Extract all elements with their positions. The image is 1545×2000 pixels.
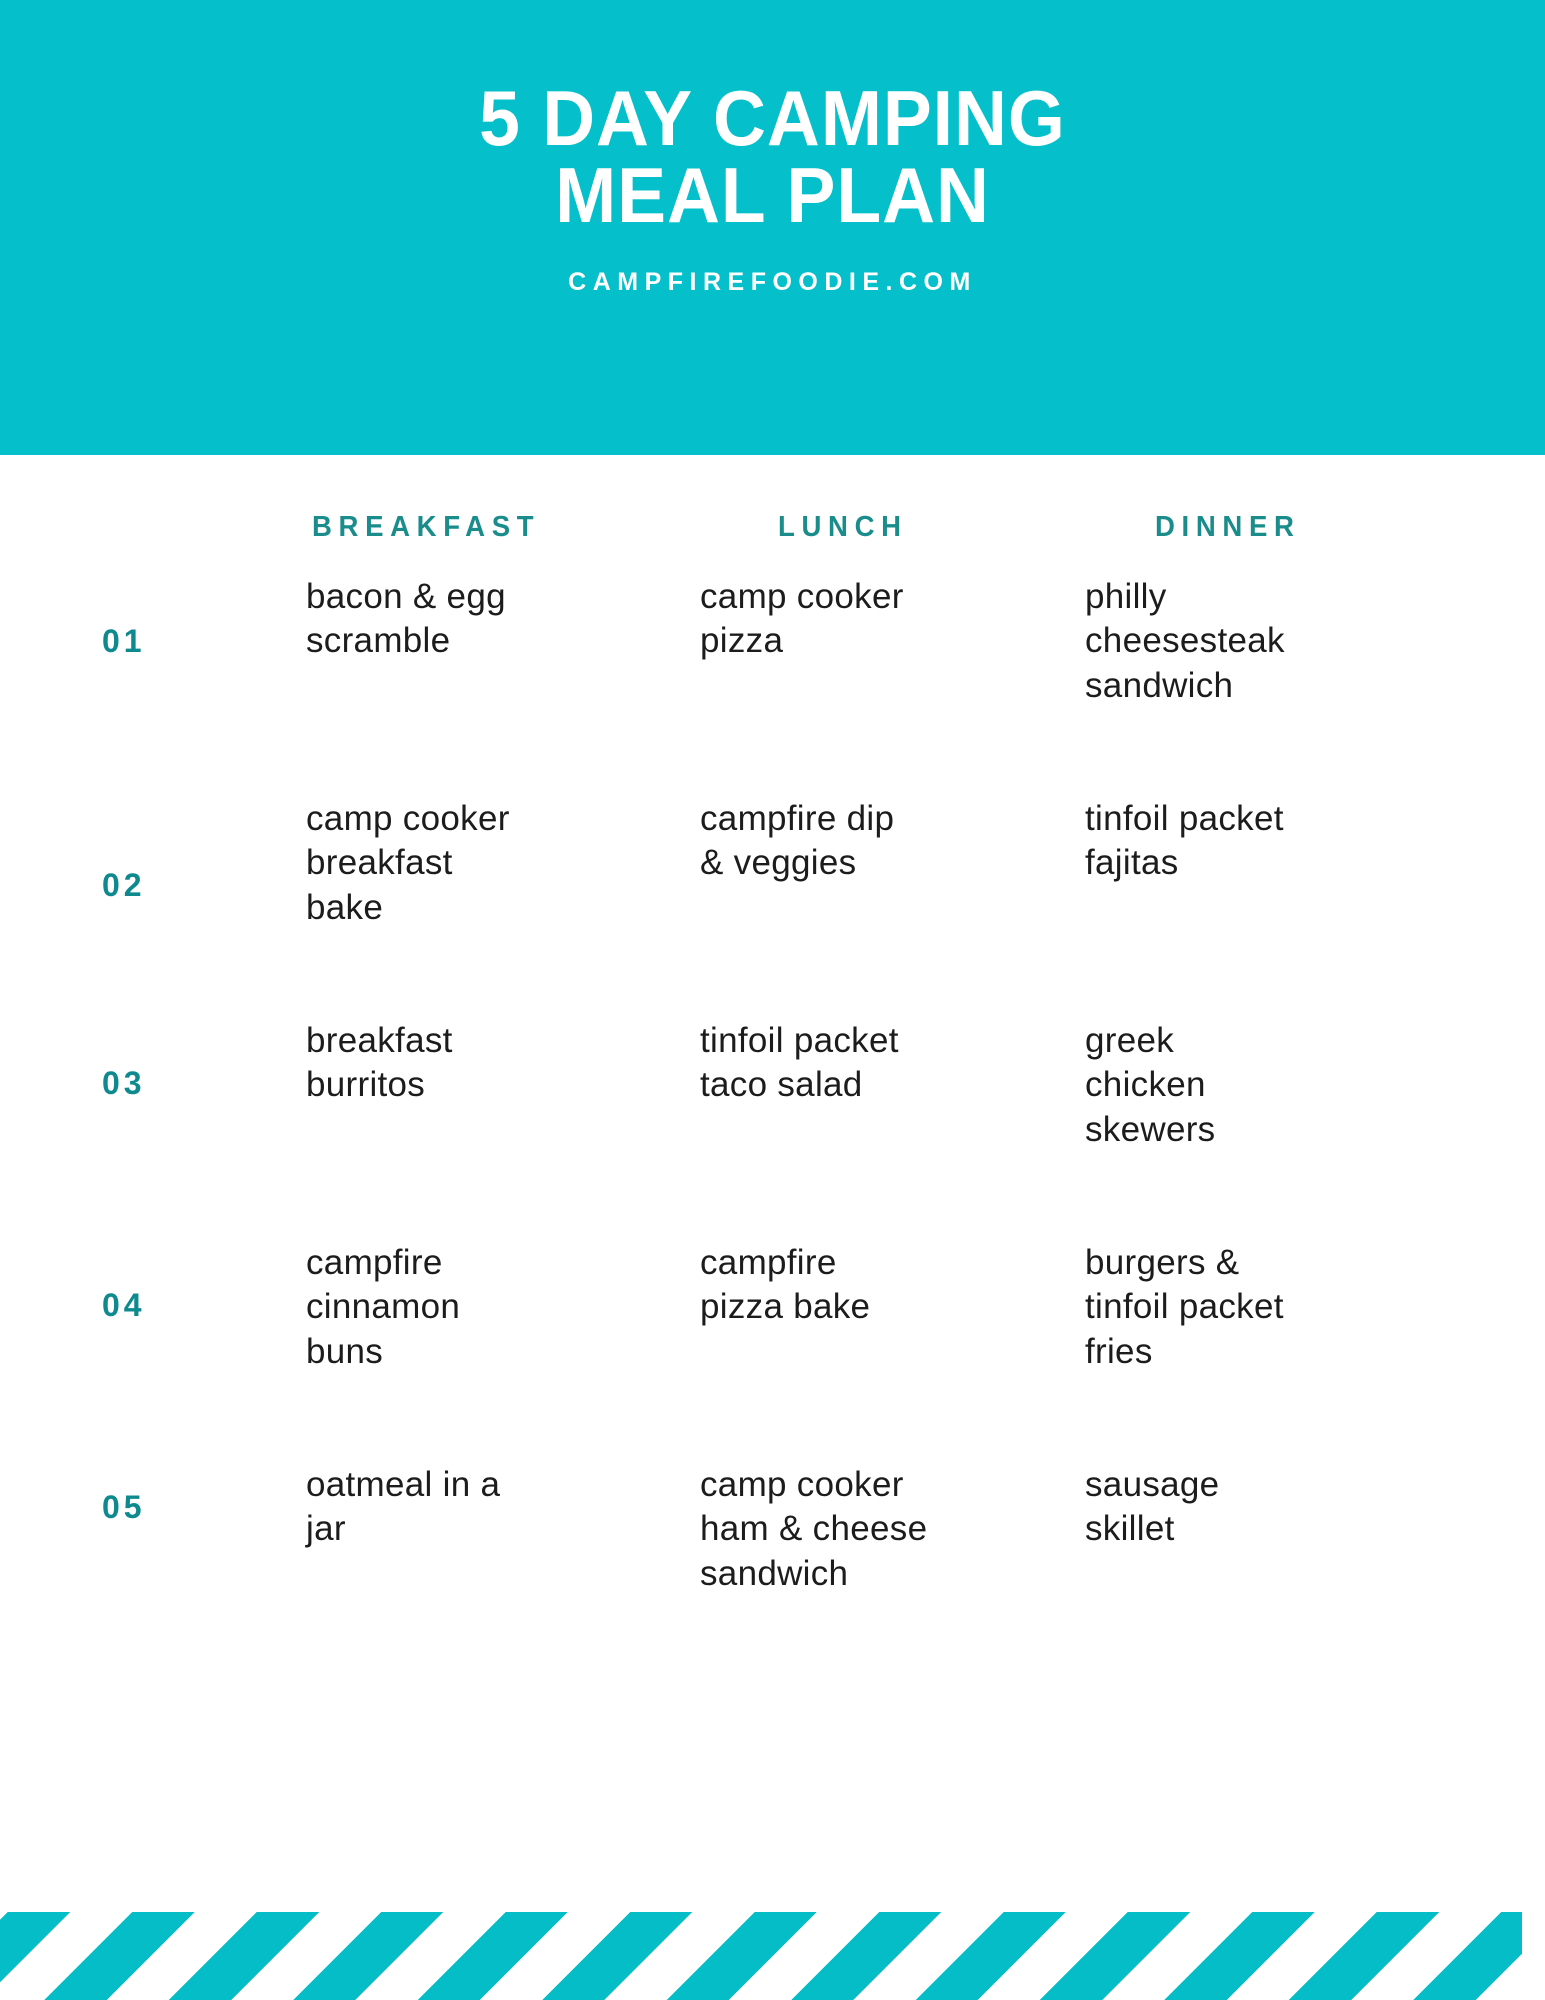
meal-breakfast: breakfast burritos xyxy=(306,1019,606,1108)
table-row: 05 oatmeal in a jar camp cooker ham & ch… xyxy=(0,1463,1545,1693)
table-row: 02 camp cooker breakfast bake campfire d… xyxy=(0,797,1545,1019)
page-title-line-1: 5 DAY CAMPING xyxy=(46,80,1498,157)
table-row: 03 breakfast burritos tinfoil packet tac… xyxy=(0,1019,1545,1241)
meal-breakfast: camp cooker breakfast bake xyxy=(306,797,606,930)
meal-lunch: camp cooker ham & cheese sandwich xyxy=(700,1463,1020,1596)
meal-plan-rows: 01 bacon & egg scramble camp cooker pizz… xyxy=(0,575,1545,1693)
column-header-row: BREAKFAST LUNCH DINNER xyxy=(0,455,1545,575)
meal-dinner: greek chicken skewers xyxy=(1085,1019,1405,1152)
header-banner: 5 DAY CAMPING MEAL PLAN CAMPFIREFOODIE.C… xyxy=(0,0,1545,455)
day-number: 02 xyxy=(102,869,212,901)
meal-breakfast: oatmeal in a jar xyxy=(306,1463,606,1552)
meal-dinner: tinfoil packet fajitas xyxy=(1085,797,1405,886)
stripe-pattern xyxy=(0,1912,1522,2000)
meal-plan-table: BREAKFAST LUNCH DINNER 01 bacon & egg sc… xyxy=(0,455,1545,1693)
meal-lunch: campfire dip & veggies xyxy=(700,797,1020,886)
table-row: 04 campfire cinnamon buns campfire pizza… xyxy=(0,1241,1545,1463)
meal-dinner: philly cheesesteak sandwich xyxy=(1085,575,1405,708)
day-number: 01 xyxy=(102,625,212,657)
meal-lunch: camp cooker pizza xyxy=(700,575,1020,664)
day-number: 05 xyxy=(102,1491,212,1523)
meal-breakfast: campfire cinnamon buns xyxy=(306,1241,606,1374)
meal-dinner: sausage skillet xyxy=(1085,1463,1405,1552)
column-header-breakfast: BREAKFAST xyxy=(312,511,540,544)
day-number: 03 xyxy=(102,1067,212,1099)
meal-breakfast: bacon & egg scramble xyxy=(306,575,606,664)
meal-dinner: burgers & tinfoil packet fries xyxy=(1085,1241,1405,1374)
day-number: 04 xyxy=(102,1289,212,1321)
meal-lunch: tinfoil packet taco salad xyxy=(700,1019,1020,1108)
column-header-lunch: LUNCH xyxy=(778,511,908,544)
table-row: 01 bacon & egg scramble camp cooker pizz… xyxy=(0,575,1545,797)
diagonal-stripe-band xyxy=(0,1912,1522,2000)
site-url-subtitle: CAMPFIREFOODIE.COM xyxy=(0,268,1545,297)
column-header-dinner: DINNER xyxy=(1155,511,1301,544)
page-title-line-2: MEAL PLAN xyxy=(46,157,1498,234)
title-block: 5 DAY CAMPING MEAL PLAN CAMPFIREFOODIE.C… xyxy=(0,80,1545,297)
meal-lunch: campfire pizza bake xyxy=(700,1241,1020,1330)
